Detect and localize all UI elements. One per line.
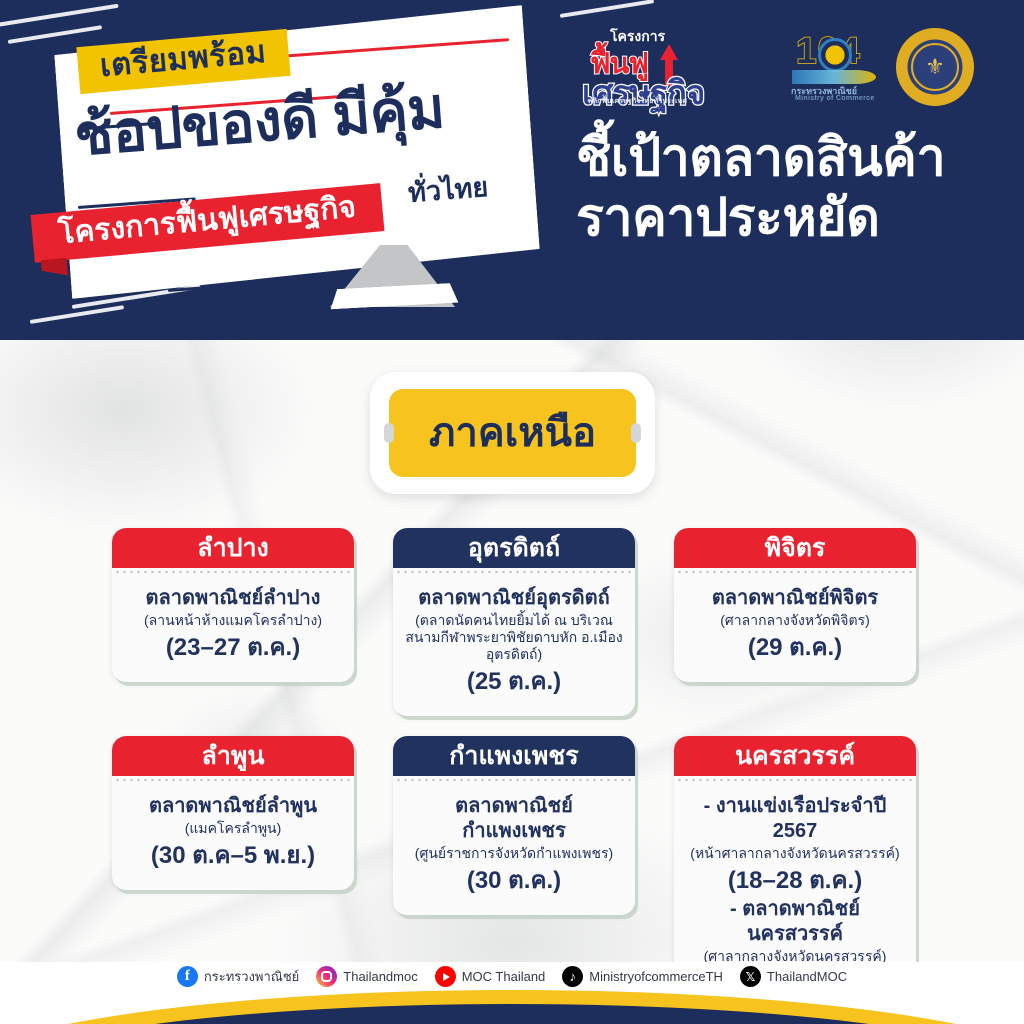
province-card-header: กำแพงเพชร bbox=[393, 736, 635, 776]
market-name: ตลาดพาณิชย์พิจิตร bbox=[684, 586, 906, 611]
ministry-name-en: Ministry of Commerce bbox=[795, 95, 875, 102]
facebook-icon[interactable]: f bbox=[177, 966, 198, 987]
market-entry: ตลาดพาณิชย์พิจิตร(ศาลากลางจังหวัดพิจิตร)… bbox=[684, 586, 906, 662]
card-dotted-divider bbox=[674, 776, 916, 784]
market-entry: ตลาดพาณิชย์อุตรดิตถ์(ตลาดนัดคนไทยยิ้มได้… bbox=[403, 586, 625, 696]
tagline-nationwide-label: ทั่วไทย bbox=[406, 165, 489, 214]
province-card[interactable]: พิจิตรตลาดพาณิชย์พิจิตร(ศาลากลางจังหวัดพ… bbox=[674, 528, 916, 682]
social-handle: MOC Thailand bbox=[462, 969, 546, 984]
anniversary-104-logo: 104 กระทรวงพาณิชย์ Ministry of Commerce bbox=[788, 26, 880, 108]
tagline-nationwide: ทั่วไทย bbox=[406, 165, 489, 214]
province-card-body: ตลาดพาณิชย์ กำแพงเพชร(ศูนย์ราชการจังหวัด… bbox=[393, 784, 635, 915]
market-name: - งานแข่งเรือประจำปี 2567 bbox=[684, 794, 906, 844]
campaign-logo-blue-word: เศรษฐกิจ bbox=[582, 66, 704, 119]
social-link-tiktok[interactable]: ♪MinistryofcommerceTH bbox=[562, 966, 723, 987]
province-card[interactable]: ลำปางตลาดพาณิชย์ลำปาง(ลานหน้าห้างแมคโครล… bbox=[112, 528, 354, 682]
province-card-header: ลำปาง bbox=[112, 528, 354, 568]
market-venue: (ลานหน้าห้างแมคโครลำปาง) bbox=[122, 612, 344, 629]
youtube-icon[interactable] bbox=[435, 966, 456, 987]
province-name: นครสวรรค์ bbox=[735, 744, 855, 769]
card-dotted-divider bbox=[112, 776, 354, 784]
government-seal-icon: ⚜ bbox=[896, 28, 974, 106]
region-badge: ภาคเหนือ bbox=[389, 389, 636, 477]
decor-streak bbox=[8, 25, 102, 44]
market-name: - ตลาดพาณิชย์นครสวรรค์ bbox=[684, 897, 906, 947]
poster-root: เตรียมพร้อม ช้อปของดี มีคุ้ม โครงการฟื้น… bbox=[0, 0, 1024, 1024]
province-card-body: ตลาดพาณิชย์อุตรดิตถ์(ตลาดนัดคนไทยยิ้มได้… bbox=[393, 576, 635, 716]
social-handle: Thailandmoc bbox=[343, 969, 417, 984]
social-link-facebook[interactable]: fกระทรวงพาณิชย์ bbox=[177, 966, 299, 987]
market-venue: (ศูนย์ราชการจังหวัดกำแพงเพชร) bbox=[403, 845, 625, 862]
anniversary-swoosh-icon bbox=[792, 70, 876, 84]
province-card-body: ตลาดพาณิชย์พิจิตร(ศาลากลางจังหวัดพิจิตร)… bbox=[674, 576, 916, 682]
province-card-header: นครสวรรค์ bbox=[674, 736, 916, 776]
decor-streak bbox=[0, 4, 119, 28]
province-card-grid: ลำปางตลาดพาณิชย์ลำปาง(ลานหน้าห้างแมคโครล… bbox=[112, 528, 918, 1018]
tiktok-icon[interactable]: ♪ bbox=[562, 966, 583, 987]
card-dotted-divider bbox=[393, 568, 635, 576]
up-arrow-icon bbox=[660, 44, 678, 60]
market-venue: (แมคโครลำพูน) bbox=[122, 820, 344, 837]
province-card-header: ลำพูน bbox=[112, 736, 354, 776]
market-dates: (18–28 ต.ค.) bbox=[684, 866, 906, 895]
province-card[interactable]: กำแพงเพชรตลาดพาณิชย์ กำแพงเพชร(ศูนย์ราชก… bbox=[393, 736, 635, 915]
instagram-icon[interactable] bbox=[316, 966, 337, 987]
province-name: พิจิตร bbox=[765, 536, 826, 561]
region-label: ภาคเหนือ bbox=[429, 413, 596, 453]
province-name: ลำพูน bbox=[202, 744, 265, 769]
market-dates: (30 ต.ค.) bbox=[403, 866, 625, 895]
social-link-x[interactable]: 𝕏ThailandMOC bbox=[740, 966, 847, 987]
badge-notch-right-icon bbox=[631, 423, 641, 443]
market-entry: - งานแข่งเรือประจำปี 2567(หน้าศาลากลางจั… bbox=[684, 794, 906, 895]
social-handle: กระทรวงพาณิชย์ bbox=[204, 966, 299, 987]
social-handle: ThailandMOC bbox=[767, 969, 847, 984]
seal-inner-glyph: ⚜ bbox=[911, 43, 959, 91]
page-title-line-2: ราคาประหยัด bbox=[576, 188, 945, 248]
social-handle: MinistryofcommerceTH bbox=[589, 969, 723, 984]
province-card-header: อุตรดิตถ์ bbox=[393, 528, 635, 568]
ribbon-prepare-label: เตรียมพร้อม bbox=[99, 36, 268, 83]
campaign-logo-subtitle: พลิกฟื้นเศรษฐกิจไทยทั่วประเทศ bbox=[588, 96, 687, 107]
market-dates: (23–27 ต.ค.) bbox=[122, 633, 344, 662]
market-dates: (25 ต.ค.) bbox=[403, 667, 625, 696]
footer-bar: fกระทรวงพาณิชย์ThailandmocMOC Thailand♪M… bbox=[0, 962, 1024, 1024]
card-dotted-divider bbox=[112, 568, 354, 576]
market-venue: (หน้าศาลากลางจังหวัดนครสวรรค์) bbox=[684, 845, 906, 862]
region-badge-frame: ภาคเหนือ bbox=[370, 372, 655, 494]
market-entry: ตลาดพาณิชย์ กำแพงเพชร(ศูนย์ราชการจังหวัด… bbox=[403, 794, 625, 895]
province-card[interactable]: ลำพูนตลาดพาณิชย์ลำพูน(แมคโครลำพูน)(30 ต.… bbox=[112, 736, 354, 890]
social-link-youtube[interactable]: MOC Thailand bbox=[435, 966, 546, 987]
page-title-line-1: ชี้เป้าตลาดสินค้า bbox=[576, 128, 945, 188]
market-entry: ตลาดพาณิชย์ลำพูน(แมคโครลำพูน)(30 ต.ค–5 พ… bbox=[122, 794, 344, 870]
market-name: ตลาดพาณิชย์อุตรดิตถ์ bbox=[403, 586, 625, 611]
province-card[interactable]: อุตรดิตถ์ตลาดพาณิชย์อุตรดิตถ์(ตลาดนัดคนไ… bbox=[393, 528, 635, 716]
badge-notch-left-icon bbox=[384, 423, 394, 443]
province-name: กำแพงเพชร bbox=[449, 744, 578, 769]
social-links: fกระทรวงพาณิชย์ThailandmocMOC Thailand♪M… bbox=[0, 966, 1024, 987]
province-name: ลำปาง bbox=[197, 536, 268, 561]
market-dates: (30 ต.ค–5 พ.ย.) bbox=[122, 841, 344, 870]
market-venue: (ตลาดนัดคนไทยยิ้มได้ ณ บริเวณ สนามกีฬาพร… bbox=[403, 612, 625, 663]
header-banner: เตรียมพร้อม ช้อปของดี มีคุ้ม โครงการฟื้น… bbox=[0, 0, 1024, 340]
province-card-body: ตลาดพาณิชย์ลำพูน(แมคโครลำพูน)(30 ต.ค–5 พ… bbox=[112, 784, 354, 890]
social-link-instagram[interactable]: Thailandmoc bbox=[316, 966, 417, 987]
province-name: อุตรดิตถ์ bbox=[468, 536, 560, 561]
page-title: ชี้เป้าตลาดสินค้า ราคาประหยัด bbox=[576, 128, 945, 249]
anniversary-emblem-icon bbox=[818, 38, 852, 72]
market-venue: (ศาลากลางจังหวัดพิจิตร) bbox=[684, 612, 906, 629]
x-icon[interactable]: 𝕏 bbox=[740, 966, 761, 987]
campaign-logo: โครงการ ฟื้นฟู เศรษฐกิจ พลิกฟื้นเศรษฐกิจ… bbox=[574, 26, 772, 108]
market-name: ตลาดพาณิชย์ลำพูน bbox=[122, 794, 344, 819]
province-card-body: ตลาดพาณิชย์ลำปาง(ลานหน้าห้างแมคโครลำปาง)… bbox=[112, 576, 354, 682]
market-name: ตลาดพาณิชย์ลำปาง bbox=[122, 586, 344, 611]
province-card-header: พิจิตร bbox=[674, 528, 916, 568]
header-right-block: โครงการ ฟื้นฟู เศรษฐกิจ พลิกฟื้นเศรษฐกิจ… bbox=[560, 0, 1024, 340]
market-name: ตลาดพาณิชย์ กำแพงเพชร bbox=[403, 794, 625, 844]
market-dates: (29 ต.ค.) bbox=[684, 633, 906, 662]
card-dotted-divider bbox=[393, 776, 635, 784]
market-entry: ตลาดพาณิชย์ลำปาง(ลานหน้าห้างแมคโครลำปาง)… bbox=[122, 586, 344, 662]
logo-row: โครงการ ฟื้นฟู เศรษฐกิจ พลิกฟื้นเศรษฐกิจ… bbox=[574, 26, 974, 108]
card-dotted-divider bbox=[674, 568, 916, 576]
